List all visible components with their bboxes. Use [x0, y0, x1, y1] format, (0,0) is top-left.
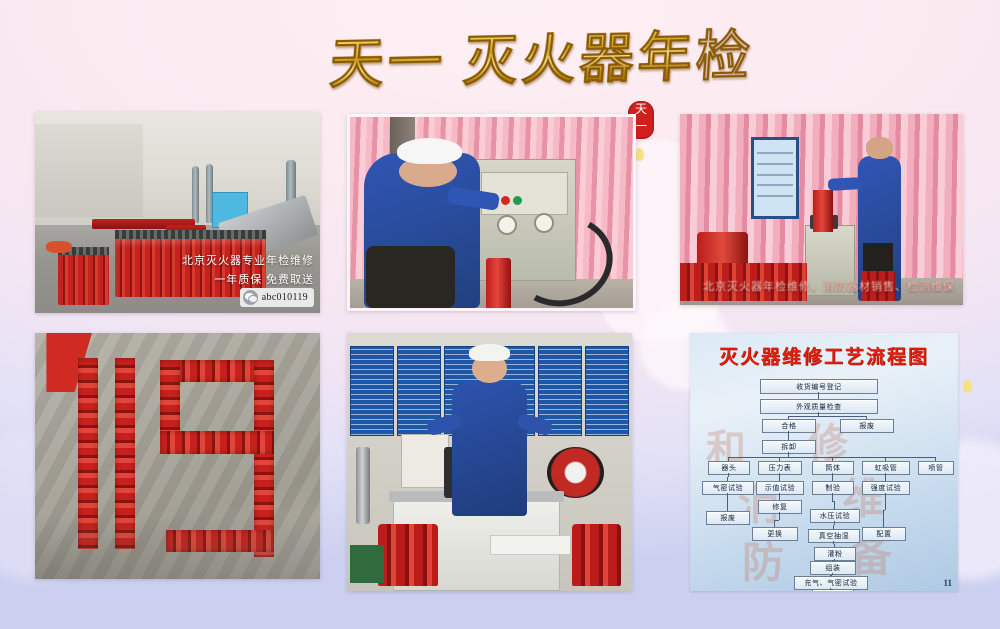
information-board — [585, 346, 629, 436]
gas-cylinder — [192, 166, 199, 222]
flowchart-connector — [774, 520, 775, 528]
flowchart-node: 水压试验 — [810, 509, 860, 523]
wechat-id-label: abc010119 — [262, 292, 308, 303]
green-pump-box — [350, 545, 384, 584]
flowchart-connector — [727, 493, 728, 502]
worker-head — [866, 137, 893, 159]
photo-region-wall-left — [35, 124, 143, 216]
flowchart-connector — [779, 457, 788, 458]
hydraulic-press — [401, 434, 449, 488]
flowchart-connector — [779, 512, 780, 520]
flowchart-node: 配置 — [862, 527, 906, 541]
decor-dot — [963, 380, 972, 393]
worker-figure — [364, 153, 480, 308]
machine-label — [490, 535, 572, 555]
flowchart-connector — [834, 559, 835, 560]
flowchart-connector — [832, 589, 833, 590]
page-number: 11 — [943, 578, 952, 588]
flowchart-connector — [818, 396, 819, 400]
flowchart-connector — [834, 521, 835, 525]
flowchart-connector — [788, 436, 789, 441]
flowchart-node: 虹吸管 — [862, 461, 910, 475]
flowchart-connector — [866, 416, 867, 420]
worker-figure — [452, 382, 526, 516]
flowchart-connector — [885, 493, 886, 510]
decor-dot — [635, 148, 644, 161]
flowchart-node: 修复 — [758, 500, 802, 514]
flowchart-node: 喷管 — [918, 461, 954, 475]
red-bucket — [46, 241, 72, 253]
information-board — [350, 346, 394, 436]
flowchart-node: 组装 — [810, 561, 856, 575]
flowchart-connector — [727, 477, 728, 481]
flowchart-node: 制验 — [812, 481, 854, 495]
worker-trousers — [366, 246, 454, 308]
extinguisher-block-small — [58, 253, 109, 305]
digit-stroke — [160, 431, 274, 453]
flowchart-connector — [833, 525, 834, 529]
photo-repair-process-flowchart[interactable]: 和 修 消 维 防 备 灭火器维修工艺流程图 收货编号登记外观质量检查合格报废拆… — [690, 333, 958, 591]
flowchart-connector — [832, 477, 833, 481]
flowchart-node: 更换 — [752, 527, 798, 541]
flowchart-node: 气密试验 — [702, 481, 754, 495]
wechat-contact-badge[interactable]: abc010119 — [240, 288, 314, 307]
flowchart-connector — [834, 544, 835, 547]
flowchart-node: 器头 — [708, 461, 750, 475]
photo-warehouse-extinguishers[interactable]: 北京灭火器专业年检维修 一年质保 免费取送 abc010119 — [35, 112, 320, 313]
photo-caption-line-1: 北京灭火器专业年检维修 — [182, 252, 314, 268]
flowchart-connector — [832, 560, 833, 561]
flowchart-node: 报废 — [706, 511, 750, 525]
flowchart-node: 示值试验 — [756, 481, 804, 495]
extinguisher-group — [572, 524, 620, 586]
flowchart-connector — [830, 575, 831, 577]
flowchart-node: 外观质量检查 — [760, 399, 878, 414]
flowchart-connector — [779, 497, 780, 501]
flowchart-node: 压力表 — [758, 461, 802, 475]
worker-cap — [397, 138, 462, 164]
photo-caption-line-2: 一年质保 免费取送 — [214, 271, 314, 287]
information-board — [751, 137, 799, 219]
gas-cylinder — [356, 447, 370, 524]
fire-extinguisher — [486, 258, 511, 308]
flowchart-connector — [935, 457, 936, 462]
flowchart-node: 称重 — [812, 589, 854, 591]
flowchart-connector — [788, 416, 818, 417]
flowchart-connector — [818, 416, 866, 417]
flowchart-connector — [779, 477, 780, 481]
photo-extinguishers-arranged-119[interactable] — [35, 333, 320, 579]
flowchart-connector — [885, 477, 886, 481]
flowchart-connector — [779, 457, 780, 462]
flowchart-node: 筒体 — [812, 461, 854, 475]
photo-workshop-maintenance-bench[interactable] — [347, 333, 632, 591]
photo-worker-filling-machine[interactable] — [347, 114, 636, 311]
flowchart-node: 真空抽湿 — [808, 529, 860, 543]
flowchart-node: 拆卸 — [762, 440, 816, 454]
fire-extinguisher — [813, 190, 833, 232]
flowchart-connector — [832, 493, 833, 501]
slide-title-wrapper: 天一 灭火器年检 — [330, 28, 690, 96]
slide-canvas: 天一 灭火器年检 天 一 北京灭火器专业年检维修 一年质保 免费取送 abc01… — [0, 0, 1000, 629]
flowchart-node-layer: 收货编号登记外观质量检查合格报废拆卸器头压力表筒体虹吸管喷管气密试验示值试验制验… — [690, 333, 958, 591]
flowchart-node: 报废 — [840, 419, 894, 433]
photo-worker-inspection-station[interactable]: 北京灭火器年检维修、消防器材销售、检测维保 — [680, 114, 963, 305]
flowchart-node: 强度试验 — [862, 481, 910, 495]
flowchart-connector — [728, 473, 729, 477]
flowchart-connector — [727, 502, 728, 511]
flowchart-node: 合格 — [762, 419, 816, 433]
flowchart-node: 灌粉 — [814, 547, 856, 561]
flowchart-connector — [788, 416, 789, 420]
photo-caption-line-1: 北京灭火器年检维修、消防器材销售、检测维保 — [703, 278, 955, 294]
flowchart-node: 收货编号登记 — [760, 379, 878, 394]
photo-shadow-overlay — [35, 515, 320, 579]
pressure-gauge — [497, 215, 517, 235]
wechat-icon — [243, 290, 258, 305]
flowchart-connector — [728, 457, 729, 462]
extinguisher-group — [378, 524, 438, 586]
page-title: 天一 灭火器年检 — [328, 24, 693, 98]
flowchart-connector — [883, 510, 884, 527]
worker-arm — [827, 177, 861, 190]
flowchart-connector — [834, 501, 835, 509]
flowchart-connector — [788, 457, 935, 458]
flowchart-connector — [832, 573, 833, 575]
worker-cap — [469, 344, 510, 360]
